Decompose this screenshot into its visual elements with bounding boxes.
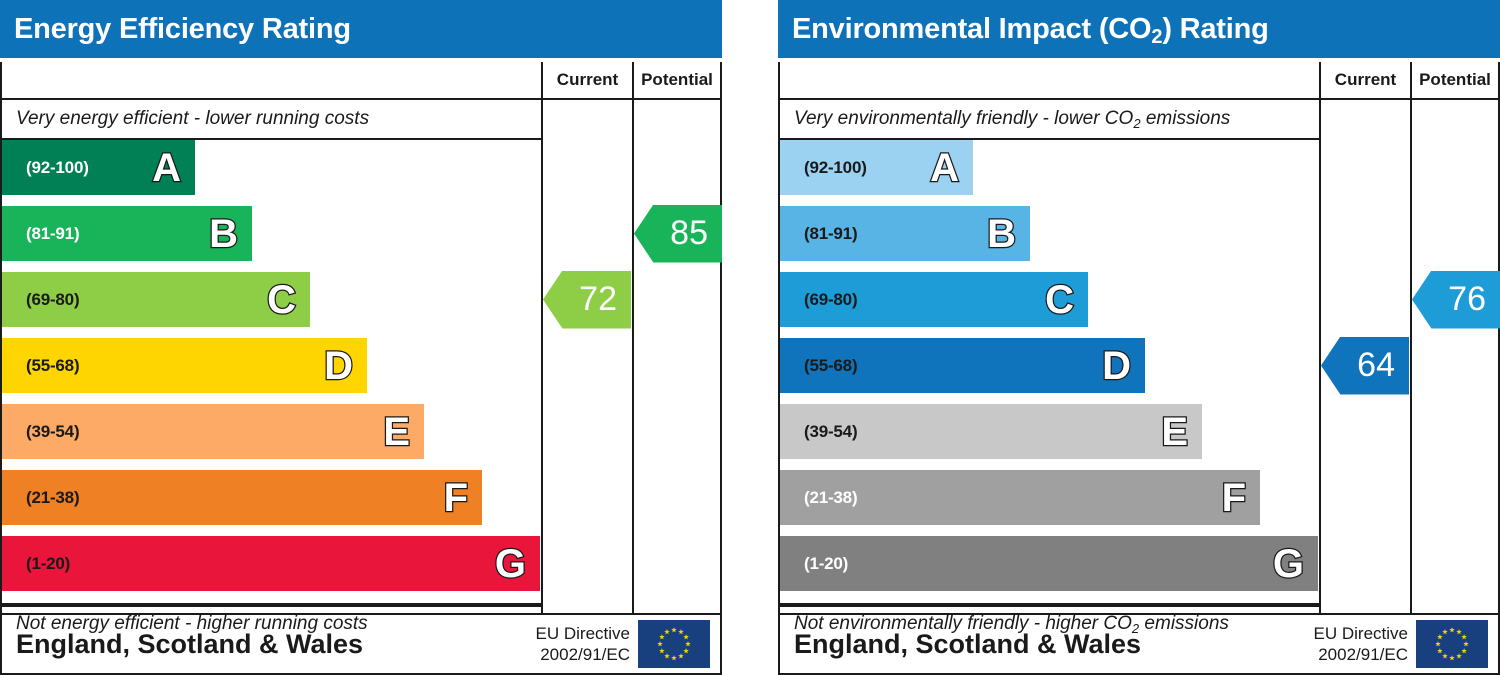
rating-band-e: (39-54)E [2, 404, 424, 459]
rating-band-e: (39-54)E [780, 404, 1202, 459]
column-rule-current [1319, 62, 1321, 613]
band-letter-label: C [1045, 280, 1074, 320]
energy-efficiency-chart: Energy Efficiency Rating Current Potenti… [0, 0, 722, 675]
band-range-label: (55-68) [780, 356, 857, 376]
band-letter-label: B [987, 214, 1016, 254]
eu-flag-icon [1416, 620, 1488, 668]
potential-rating-marker: 85 [634, 205, 722, 263]
footer-directive: EU Directive 2002/91/EC [536, 623, 638, 666]
current-rating-value: 64 [1357, 346, 1395, 385]
band-letter-label: F [1222, 478, 1246, 518]
chart-title: Environmental Impact (CO2) Rating [792, 13, 1269, 46]
chart-title-bar: Energy Efficiency Rating [0, 0, 722, 58]
caption-top-text: Very energy efficient - lower running co… [16, 108, 369, 130]
eu-flag-icon [638, 620, 710, 668]
band-range-label: (81-91) [780, 224, 857, 244]
chart-title-bar: Environmental Impact (CO2) Rating [778, 0, 1500, 58]
chart-footer: England, Scotland & Wales EU Directive 2… [778, 613, 1500, 675]
column-rule-potential [632, 62, 634, 613]
column-rule-potential [1410, 62, 1412, 613]
band-letter-label: G [495, 544, 526, 584]
band-letter-label: A [930, 148, 959, 188]
directive-line-1: EU Directive [536, 623, 630, 644]
band-letter-label: E [1161, 412, 1188, 452]
band-range-label: (92-100) [780, 158, 867, 178]
epc-certificate-page: Energy Efficiency Rating Current Potenti… [0, 0, 1500, 675]
band-range-label: (21-38) [780, 488, 857, 508]
chart-title: Energy Efficiency Rating [14, 13, 351, 46]
band-range-label: (81-91) [2, 224, 79, 244]
rating-band-b: (81-91)B [2, 206, 252, 261]
band-letter-label: F [444, 478, 468, 518]
environmental-impact-chart: Environmental Impact (CO2) Rating Curren… [778, 0, 1500, 675]
rating-band-a: (92-100)A [2, 140, 195, 195]
rating-band-d: (55-68)D [780, 338, 1145, 393]
potential-rating-value: 85 [670, 214, 708, 253]
current-rating-marker: 72 [543, 271, 631, 329]
band-letter-label: G [1273, 544, 1304, 584]
band-range-label: (92-100) [2, 158, 89, 178]
rating-band-a: (92-100)A [780, 140, 973, 195]
column-header-potential: Potential [1412, 62, 1498, 98]
column-header-row: Current Potential [2, 62, 720, 100]
rating-bars: (92-100)A(81-91)B(69-80)C(55-68)D(39-54)… [2, 140, 541, 603]
rating-band-d: (55-68)D [2, 338, 367, 393]
potential-rating-marker: 76 [1412, 271, 1500, 329]
column-header-row: Current Potential [780, 62, 1498, 100]
caption-top: Very energy efficient - lower running co… [2, 100, 541, 138]
band-letter-label: D [324, 346, 353, 386]
directive-line-2: 2002/91/EC [536, 644, 630, 665]
band-range-label: (39-54) [780, 422, 857, 442]
band-range-label: (69-80) [2, 290, 79, 310]
rating-band-g: (1-20)G [780, 536, 1318, 591]
band-range-label: (39-54) [2, 422, 79, 442]
band-letter-label: D [1102, 346, 1131, 386]
band-letter-label: B [209, 214, 238, 254]
chart-body: Current Potential Very environmentally f… [778, 62, 1500, 615]
band-letter-label: E [383, 412, 410, 452]
directive-line-1: EU Directive [1314, 623, 1408, 644]
footer-directive: EU Directive 2002/91/EC [1314, 623, 1416, 666]
caption-top-text: Very environmentally friendly - lower CO… [794, 108, 1230, 130]
directive-line-2: 2002/91/EC [1314, 644, 1408, 665]
band-letter-label: A [152, 148, 181, 188]
band-range-label: (69-80) [780, 290, 857, 310]
column-header-current: Current [543, 62, 632, 98]
rating-bars: (92-100)A(81-91)B(69-80)C(55-68)D(39-54)… [780, 140, 1319, 603]
column-header-current: Current [1321, 62, 1410, 98]
footer-region-label: England, Scotland & Wales [2, 629, 536, 660]
rating-band-f: (21-38)F [2, 470, 482, 525]
rating-band-c: (69-80)C [2, 272, 310, 327]
footer-region-label: England, Scotland & Wales [780, 629, 1314, 660]
rating-band-g: (1-20)G [2, 536, 540, 591]
current-rating-marker: 64 [1321, 337, 1409, 395]
chart-footer: England, Scotland & Wales EU Directive 2… [0, 613, 722, 675]
rating-band-b: (81-91)B [780, 206, 1030, 261]
potential-rating-value: 76 [1448, 280, 1486, 319]
band-letter-label: C [267, 280, 296, 320]
caption-top: Very environmentally friendly - lower CO… [780, 100, 1319, 138]
column-rule-current [541, 62, 543, 613]
band-range-label: (1-20) [2, 554, 70, 574]
rating-band-f: (21-38)F [780, 470, 1260, 525]
rating-band-c: (69-80)C [780, 272, 1088, 327]
column-header-potential: Potential [634, 62, 720, 98]
band-range-label: (1-20) [780, 554, 848, 574]
band-range-label: (21-38) [2, 488, 79, 508]
chart-body: Current Potential Very energy efficient … [0, 62, 722, 615]
band-range-label: (55-68) [2, 356, 79, 376]
current-rating-value: 72 [579, 280, 617, 319]
